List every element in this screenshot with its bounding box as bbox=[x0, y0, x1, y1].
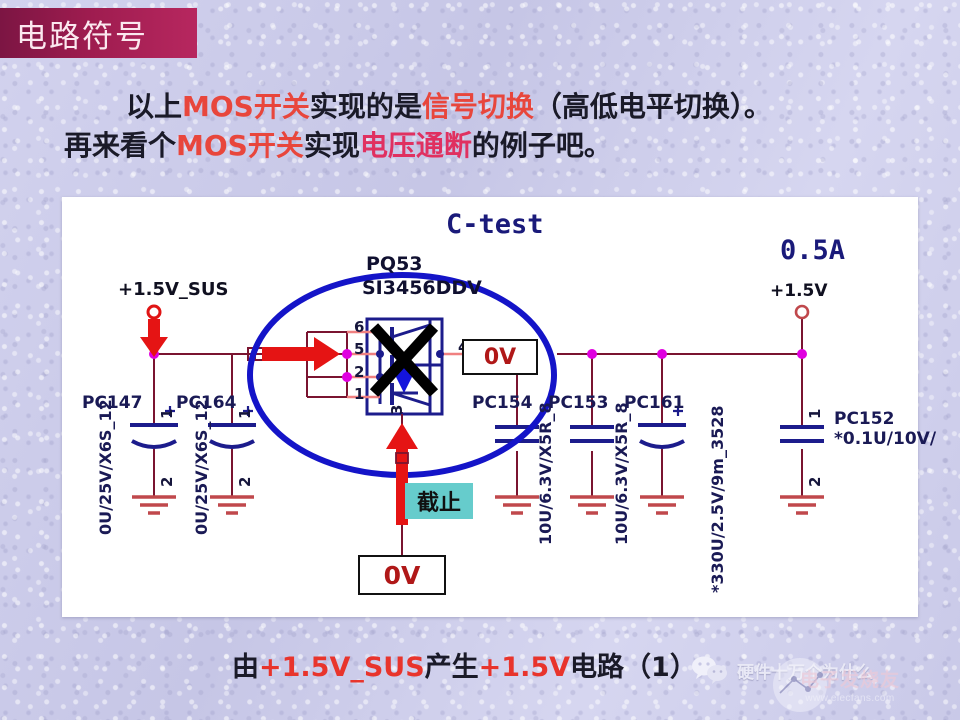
pin-pc147-top: 1 bbox=[158, 409, 176, 419]
pin-pc152-bottom: 2 bbox=[806, 477, 824, 487]
slide-root: 电路符号 以上MOS开关实现的是信号切换（高低电平切换）。 再来看个MOS开关实… bbox=[0, 0, 960, 720]
site-watermark: 电子发烧友 www.elecfans.com bbox=[800, 665, 900, 704]
refdes-pc153: PC153 bbox=[548, 393, 608, 413]
measurement-box-gate: 0V bbox=[358, 555, 446, 595]
pin-pc152-top: 1 bbox=[806, 409, 824, 419]
caption-part-a: 由 bbox=[232, 652, 259, 683]
net-label-out: +1.5V bbox=[770, 281, 828, 301]
schematic-panel: C-test 0.5A +1.5V_SUS +1.5V PQ53 SI3456D… bbox=[62, 197, 918, 617]
value-pc154: 10U/6.3V/X5R_8 bbox=[536, 402, 555, 545]
headline-l1-highlight: 信号切换 bbox=[422, 90, 534, 123]
mosfet-refdes: PQ53 bbox=[366, 253, 423, 275]
site-name-cn: 电子发烧友 bbox=[800, 665, 900, 692]
value-pc147: 0U/25V/X6S_12 bbox=[96, 399, 115, 535]
headline-l2-highlight: 电压通断 bbox=[360, 129, 472, 162]
value-pc153: 10U/6.3V/X5R_8 bbox=[612, 402, 631, 545]
caption-dest-net: +1.5V bbox=[479, 652, 570, 683]
mosfet-pin-2: 2 bbox=[354, 363, 364, 381]
headline-line-1: 以上MOS开关实现的是信号切换（高低电平切换）。 bbox=[60, 88, 940, 127]
headline-l2-part-a: 再来看个 bbox=[64, 129, 176, 162]
mosfet-state-badge: 截止 bbox=[405, 483, 473, 519]
mosfet-pin-6: 6 bbox=[354, 318, 364, 336]
mosfet-pin-1: 1 bbox=[354, 385, 364, 403]
slide-caption: 由+1.5V_SUS产生+1.5V电路（1） bbox=[232, 645, 697, 684]
refdes-pc152: PC152 bbox=[834, 409, 894, 429]
site-url: www.elecfans.com bbox=[800, 693, 900, 704]
measurement-box-drain: 0V bbox=[462, 339, 538, 375]
wechat-icon bbox=[690, 655, 730, 685]
value-pc152: *0.1U/10V/ bbox=[834, 429, 936, 449]
headline-l1-mos: MOS开关 bbox=[182, 90, 310, 123]
current-rating-label: 0.5A bbox=[780, 235, 845, 266]
mosfet-part-number: SI3456DDV bbox=[362, 277, 482, 299]
slide-title-banner: 电路符号 bbox=[0, 8, 197, 58]
caption-part-b: 产生 bbox=[425, 652, 479, 683]
headline-l1-part-a: 以上 bbox=[126, 90, 182, 123]
headline-l2-part-c: 的例子吧。 bbox=[472, 129, 612, 162]
net-port-symbols bbox=[148, 306, 808, 318]
page-title: 电路符号 bbox=[0, 11, 148, 56]
headline-l1-part-c: （高低电平切换）。 bbox=[534, 90, 772, 123]
mosfet-pin-3: 3 bbox=[388, 405, 406, 415]
pin-pc147-bottom: 2 bbox=[158, 477, 176, 487]
mosfet-pin-5: 5 bbox=[354, 340, 364, 358]
pin-pc164-bottom: 2 bbox=[236, 477, 254, 487]
headline-l2-mos: MOS开关 bbox=[176, 129, 304, 162]
caption-part-c: 电路（1） bbox=[570, 652, 697, 683]
headline-l2-part-b: 实现 bbox=[304, 129, 360, 162]
headline-l1-part-b: 实现的是 bbox=[310, 90, 422, 123]
value-pc161: *330U/2.5V/9m_3528 bbox=[708, 405, 727, 593]
refdes-pc154: PC154 bbox=[472, 393, 532, 413]
refdes-pc161: PC161 bbox=[624, 393, 684, 413]
net-label-in: +1.5V_SUS bbox=[118, 279, 228, 300]
schematic-title: C-test bbox=[446, 209, 544, 240]
headline-line-2: 再来看个MOS开关实现电压通断的例子吧。 bbox=[60, 127, 940, 166]
caption-source-net: +1.5V_SUS bbox=[259, 652, 425, 683]
headline-paragraph: 以上MOS开关实现的是信号切换（高低电平切换）。 再来看个MOS开关实现电压通断… bbox=[60, 88, 940, 165]
pin-pc164-top: 1 bbox=[236, 409, 254, 419]
annotation-arrows bbox=[140, 319, 418, 525]
value-pc164: 0U/25V/X6S_12 bbox=[192, 399, 211, 535]
